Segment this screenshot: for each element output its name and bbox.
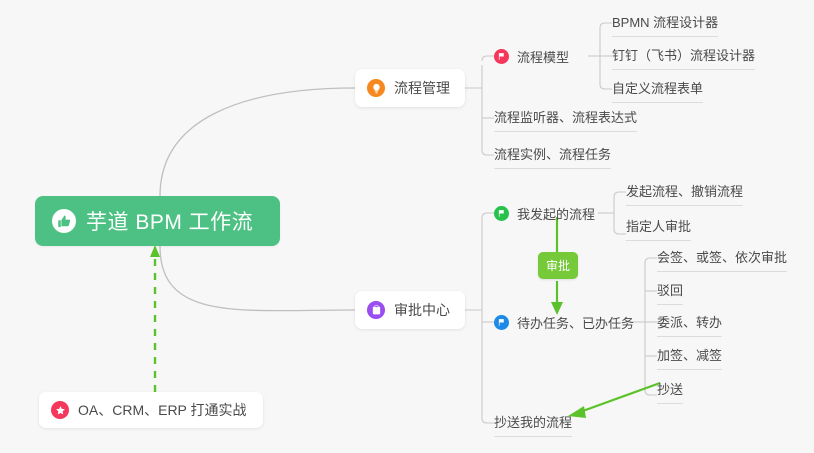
leaf-add-remove-sign[interactable]: 加签、减签	[657, 345, 722, 370]
wire-model-to-bpmn	[600, 23, 612, 28]
sub-label-process-model: 流程模型	[517, 47, 569, 66]
flag-icon	[494, 315, 509, 330]
sub-node-my-started-process[interactable]: 我发起的流程	[494, 202, 595, 224]
wire-started-to-launch	[614, 192, 626, 197]
flag-icon	[494, 206, 509, 221]
sub-node-process-model[interactable]: 流程模型	[494, 45, 569, 67]
dashed-arrow-head	[150, 245, 160, 257]
wire-process-to-model	[482, 56, 494, 61]
mindmap-canvas: 芋道 BPM 工作流 OA、CRM、ERP 打通实战 流程管理 流程模型	[0, 0, 814, 453]
wire-todo-to-countersign	[645, 258, 657, 263]
flag-icon	[494, 49, 509, 64]
leaf-bpmn-designer[interactable]: BPMN 流程设计器	[612, 12, 718, 37]
integration-note-label: OA、CRM、ERP 打通实战	[78, 400, 247, 420]
branch-label-approval-center: 审批中心	[394, 300, 450, 320]
thumbs-up-icon	[52, 209, 76, 233]
leaf-launch-cancel-process[interactable]: 发起流程、撤销流程	[626, 181, 743, 206]
leaf-cc-my-process[interactable]: 抄送我的流程	[494, 412, 572, 437]
root-node[interactable]: 芋道 BPM 工作流	[35, 196, 280, 246]
sub-label-todo-done-tasks: 待办任务、已办任务	[517, 313, 634, 332]
wire-todo-to-cc	[645, 390, 657, 395]
leaf-custom-form[interactable]: 自定义流程表单	[612, 78, 703, 103]
branch-label-process-management: 流程管理	[394, 78, 450, 98]
wire-approval-to-started	[482, 213, 494, 218]
wire-process-to-instance	[482, 150, 494, 155]
branch-node-approval-center[interactable]: 审批中心	[355, 291, 465, 329]
wire-model-to-customform	[600, 84, 612, 89]
leaf-carbon-copy[interactable]: 抄送	[657, 379, 683, 404]
leaf-countersign[interactable]: 会签、或签、依次审批	[657, 247, 787, 272]
integration-note-node[interactable]: OA、CRM、ERP 打通实战	[39, 392, 263, 428]
leaf-delegate-transfer[interactable]: 委派、转办	[657, 312, 722, 337]
wire-root-to-process	[160, 88, 355, 196]
branch-node-process-management[interactable]: 流程管理	[355, 69, 465, 107]
cc-arrow-line	[580, 383, 660, 412]
sub-label-my-started-process: 我发起的流程	[517, 204, 595, 223]
leaf-reject[interactable]: 驳回	[657, 280, 683, 305]
sub-node-todo-done-tasks[interactable]: 待办任务、已办任务	[494, 311, 634, 333]
lightbulb-icon	[367, 79, 385, 97]
clipboard-icon	[367, 301, 385, 319]
leaf-dingtalk-designer[interactable]: 钉钉（飞书）流程设计器	[612, 45, 755, 70]
leaf-process-instance[interactable]: 流程实例、流程任务	[494, 144, 611, 169]
wire-root-to-approval	[160, 246, 355, 311]
wire-approval-to-cc	[482, 418, 494, 423]
root-label: 芋道 BPM 工作流	[86, 206, 253, 236]
approve-badge[interactable]: 审批	[538, 252, 578, 279]
star-icon	[51, 401, 69, 419]
leaf-assignee-approval[interactable]: 指定人审批	[626, 216, 691, 241]
wire-started-to-assign	[614, 229, 626, 234]
leaf-process-listener[interactable]: 流程监听器、流程表达式	[494, 107, 637, 132]
